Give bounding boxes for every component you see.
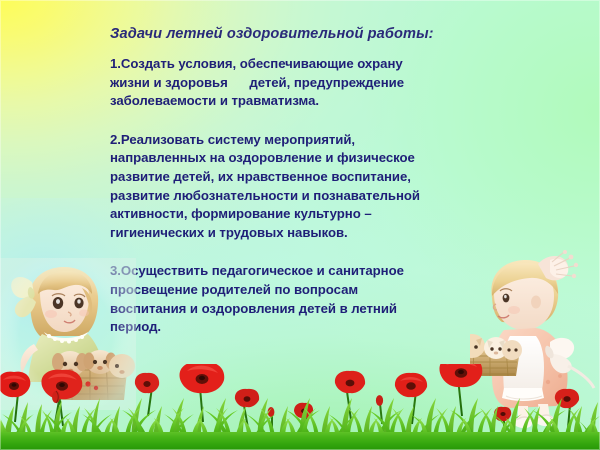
grass-base xyxy=(0,432,600,450)
slide-canvas: Задачи летней оздоровительной работы: 1.… xyxy=(0,0,600,450)
task-paragraph-2: 2.Реализовать систему мероприятий, напра… xyxy=(110,131,502,243)
task-paragraph-1: 1.Создать условия, обеспечивающие охрану… xyxy=(110,55,502,111)
kitten-3 xyxy=(502,340,522,360)
slide-title: Задачи летней оздоровительной работы: xyxy=(110,25,502,43)
grass-and-poppies-band xyxy=(0,364,600,450)
text-content-block: Задачи летней оздоровительной работы: 1.… xyxy=(110,25,502,337)
task-paragraph-3: 3.Осуществить педагогическое и санитарно… xyxy=(110,262,502,336)
